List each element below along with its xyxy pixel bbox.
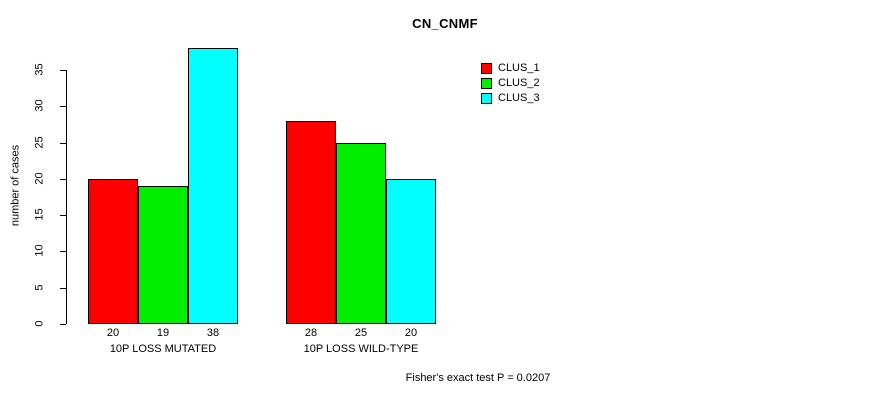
legend-item-label: CLUS_2 (498, 78, 540, 89)
y-axis-tick-label: 0 (28, 318, 52, 329)
y-axis-tick-label: 20 (28, 173, 52, 184)
y-axis-tick (60, 143, 66, 144)
group-label-1: 10P LOSS MUTATED (48, 343, 278, 355)
y-axis-line (66, 70, 67, 324)
legend-item-clus_2: CLUS_2 (481, 76, 540, 91)
legend-item-label: CLUS_3 (498, 93, 540, 104)
y-axis-tick-label: 5 (28, 282, 52, 293)
bar-clus_3-group2 (386, 179, 436, 324)
y-axis-tick (60, 179, 66, 180)
bar-clus_2-group2 (336, 143, 386, 324)
y-axis-tick (60, 288, 66, 289)
bar-value-label: 25 (336, 328, 386, 339)
legend-swatch-icon (481, 93, 492, 104)
bar-value-label: 38 (188, 328, 238, 339)
y-axis-tick (60, 215, 66, 216)
y-axis-tick (60, 251, 66, 252)
legend-item-label: CLUS_1 (498, 63, 540, 74)
legend-swatch-icon (481, 78, 492, 89)
bar-value-label: 19 (138, 328, 188, 339)
bar-clus_3-group1 (188, 48, 238, 324)
y-axis-tick-label: 10 (28, 245, 52, 256)
bar-value-label: 20 (88, 328, 138, 339)
y-axis-tick-label: 30 (28, 100, 52, 111)
bar-value-label: 28 (286, 328, 336, 339)
bar-value-label: 20 (386, 328, 436, 339)
y-axis-tick-label: 15 (28, 209, 52, 220)
legend-swatch-icon (481, 63, 492, 74)
y-axis-tick (60, 106, 66, 107)
plot-area: 05101520253035 number of cases 201938282… (0, 0, 890, 400)
bar-clus_1-group2 (286, 121, 336, 324)
legend-item-clus_1: CLUS_1 (481, 61, 540, 76)
footer-annotation: Fisher's exact test P = 0.0207 (0, 372, 890, 384)
legend-item-clus_3: CLUS_3 (481, 91, 540, 106)
y-axis-tick (60, 70, 66, 71)
bar-clus_1-group1 (88, 179, 138, 324)
group-label-2: 10P LOSS WILD-TYPE (246, 343, 476, 355)
bar-clus_2-group1 (138, 186, 188, 324)
y-axis-title: number of cases (11, 136, 22, 236)
y-axis-tick (60, 324, 66, 325)
legend: CLUS_1CLUS_2CLUS_3 (481, 61, 540, 106)
y-axis-tick-label: 25 (28, 137, 52, 148)
footer-annotation-text: Fisher's exact test P = 0.0207 (406, 372, 551, 384)
y-axis-tick-label: 35 (28, 64, 52, 75)
